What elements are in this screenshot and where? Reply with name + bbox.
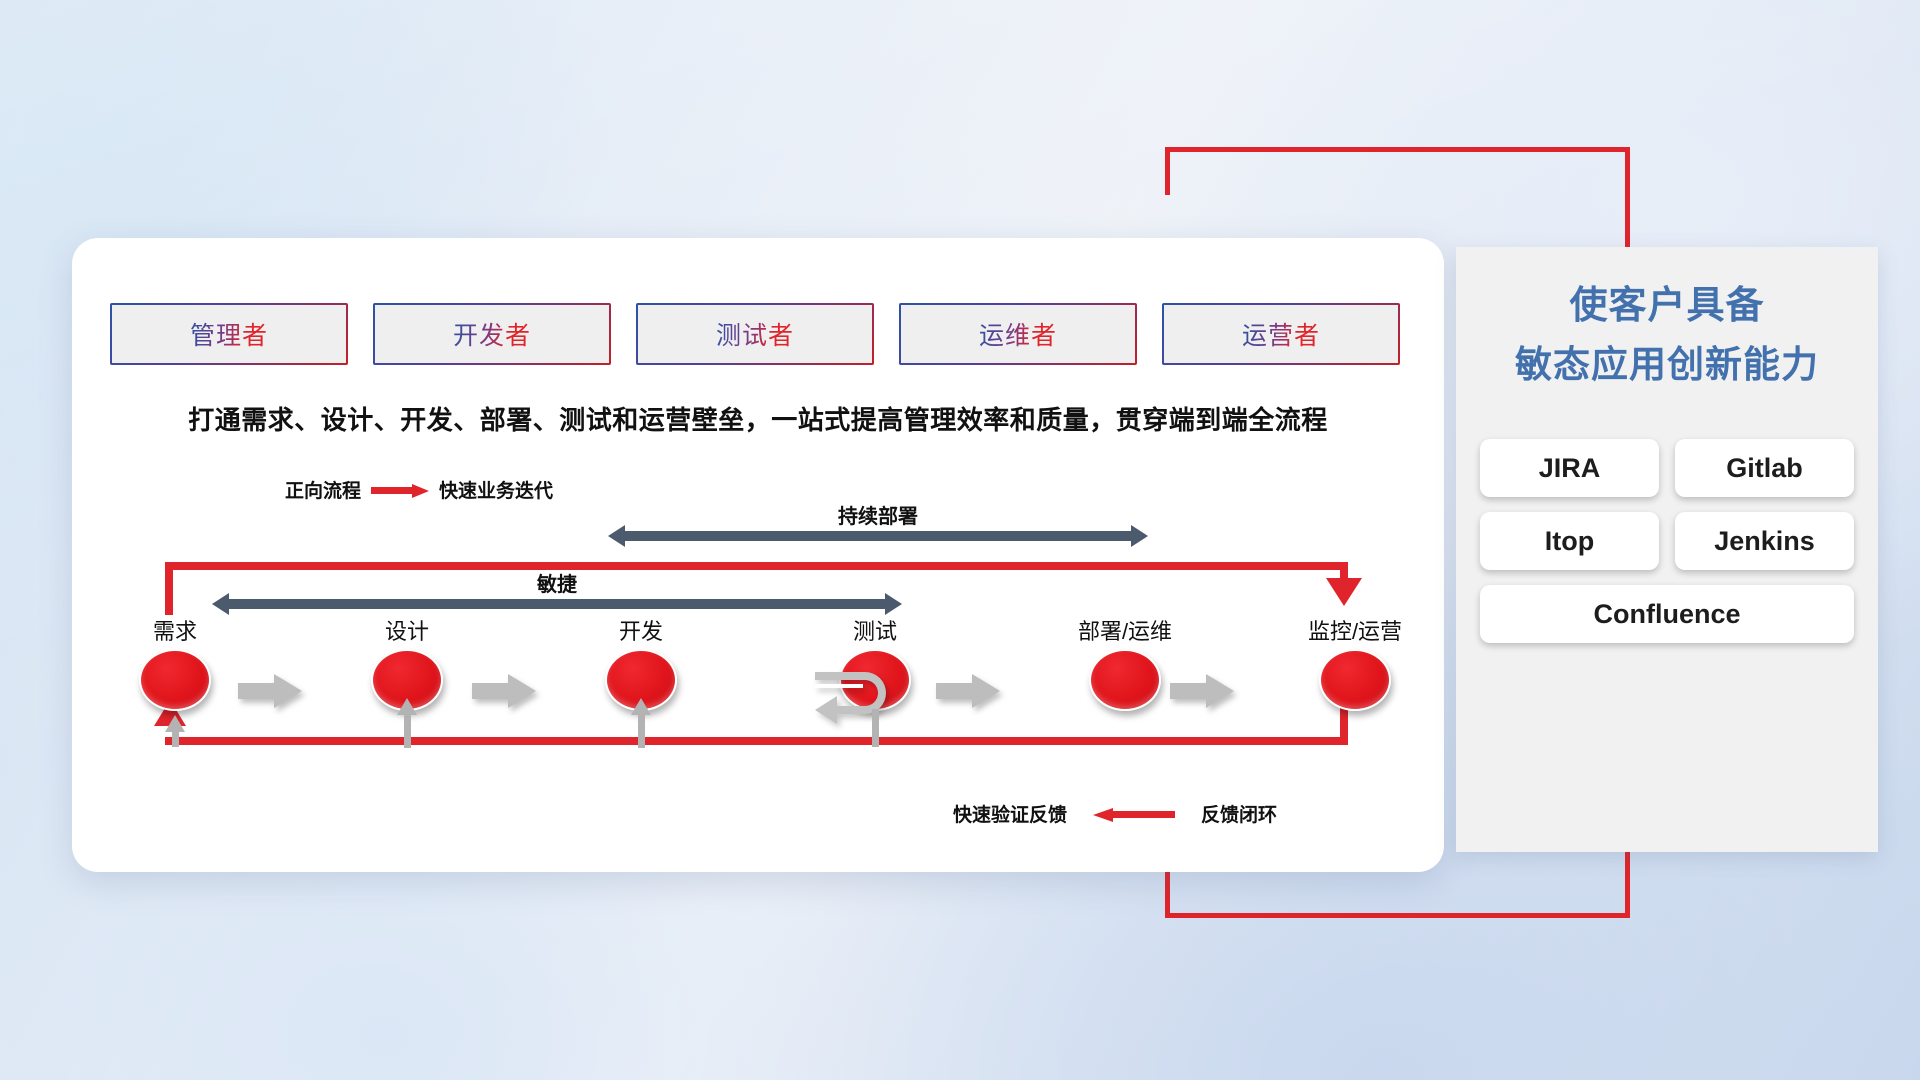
stage-label: 设计 (385, 614, 429, 646)
role-box-inner: 运营者 (1164, 305, 1398, 363)
tool-chip-jenkins[interactable]: Jenkins (1675, 512, 1854, 570)
panel-title-line2: 敏态应用创新能力 (1456, 336, 1878, 393)
role-box-inner: 测试者 (638, 305, 872, 363)
role-label: 运维者 (979, 316, 1057, 352)
legend-forward-left-label: 正向流程 (285, 476, 361, 503)
tool-chip-jira[interactable]: JIRA (1480, 439, 1659, 497)
arrow-right-gray-icon (238, 674, 302, 708)
legend-forward-flow: 正向流程 快速业务迭代 (285, 476, 553, 503)
role-box-row: 管理者 开发者 测试者 运维者 运营者 (110, 303, 1400, 365)
loop-back-gray-icon (813, 666, 891, 736)
double-arrow-agile-icon (212, 593, 902, 615)
legend-forward-right-label: 快速业务迭代 (439, 476, 553, 503)
uptick-design-icon (404, 714, 411, 748)
role-box-inner: 运维者 (901, 305, 1135, 363)
arrow-right-gray-icon (472, 674, 536, 708)
loop-left-line (165, 562, 173, 615)
role-label: 测试者 (716, 316, 794, 352)
tool-chip-confluence[interactable]: Confluence (1480, 585, 1854, 643)
stage-label: 开发 (619, 614, 663, 646)
stage-label: 测试 (853, 614, 897, 646)
uptick-test-icon (872, 709, 879, 747)
uptick-requirement-icon (172, 731, 179, 747)
bracket-top-line (1165, 147, 1630, 152)
double-arrow-continuous-deployment-icon (608, 525, 1148, 547)
role-label: 开发者 (453, 316, 531, 352)
arrow-left-red-icon (1093, 808, 1175, 820)
panel-title: 使客户具备 敏态应用创新能力 (1456, 277, 1878, 393)
stage-dot (139, 649, 211, 711)
stage-label: 监控/运营 (1308, 614, 1402, 646)
panel-title-line1: 使客户具备 (1456, 277, 1878, 336)
uptick-develop-icon (638, 714, 645, 748)
bracket-bottom-line (1165, 913, 1630, 918)
legend-feedback-right-label: 反馈闭环 (1201, 800, 1277, 827)
legend-feedback-loop: 快速验证反馈 反馈闭环 (953, 800, 1277, 827)
role-box-operations[interactable]: 运营者 (1162, 303, 1400, 365)
tool-chip-list: JIRA Gitlab Itop Jenkins Confluence (1480, 439, 1854, 643)
bracket-top-left-stub (1165, 147, 1170, 195)
arrow-right-gray-icon (1170, 674, 1234, 708)
role-label: 管理者 (190, 316, 268, 352)
stage-dot (1319, 649, 1391, 711)
bracket-bottom-left-stub (1165, 866, 1170, 918)
role-box-inner: 管理者 (112, 305, 346, 363)
loop-arrow-down-icon (1326, 578, 1362, 606)
stage-dot (1089, 649, 1161, 711)
tools-panel: 使客户具备 敏态应用创新能力 JIRA Gitlab Itop Jenkins … (1456, 247, 1878, 852)
stage-label: 需求 (153, 614, 197, 646)
role-box-manager[interactable]: 管理者 (110, 303, 348, 365)
tool-chip-itop[interactable]: Itop (1480, 512, 1659, 570)
pipeline-row: 需求 设计 开发 测试 部署/运维 监控/运营 (110, 614, 1400, 744)
role-label: 运营者 (1242, 316, 1320, 352)
subtitle-text: 打通需求、设计、开发、部署、测试和运营壁垒，一站式提高管理效率和质量，贯穿端到端… (72, 400, 1444, 437)
tool-chip-gitlab[interactable]: Gitlab (1675, 439, 1854, 497)
role-box-developer[interactable]: 开发者 (373, 303, 611, 365)
role-box-tester[interactable]: 测试者 (636, 303, 874, 365)
role-box-ops[interactable]: 运维者 (899, 303, 1137, 365)
arrow-right-red-icon (371, 484, 429, 496)
stage-label: 部署/运维 (1078, 614, 1172, 646)
legend-feedback-left-label: 快速验证反馈 (953, 800, 1067, 827)
arrow-right-gray-icon (936, 674, 1000, 708)
role-box-inner: 开发者 (375, 305, 609, 363)
